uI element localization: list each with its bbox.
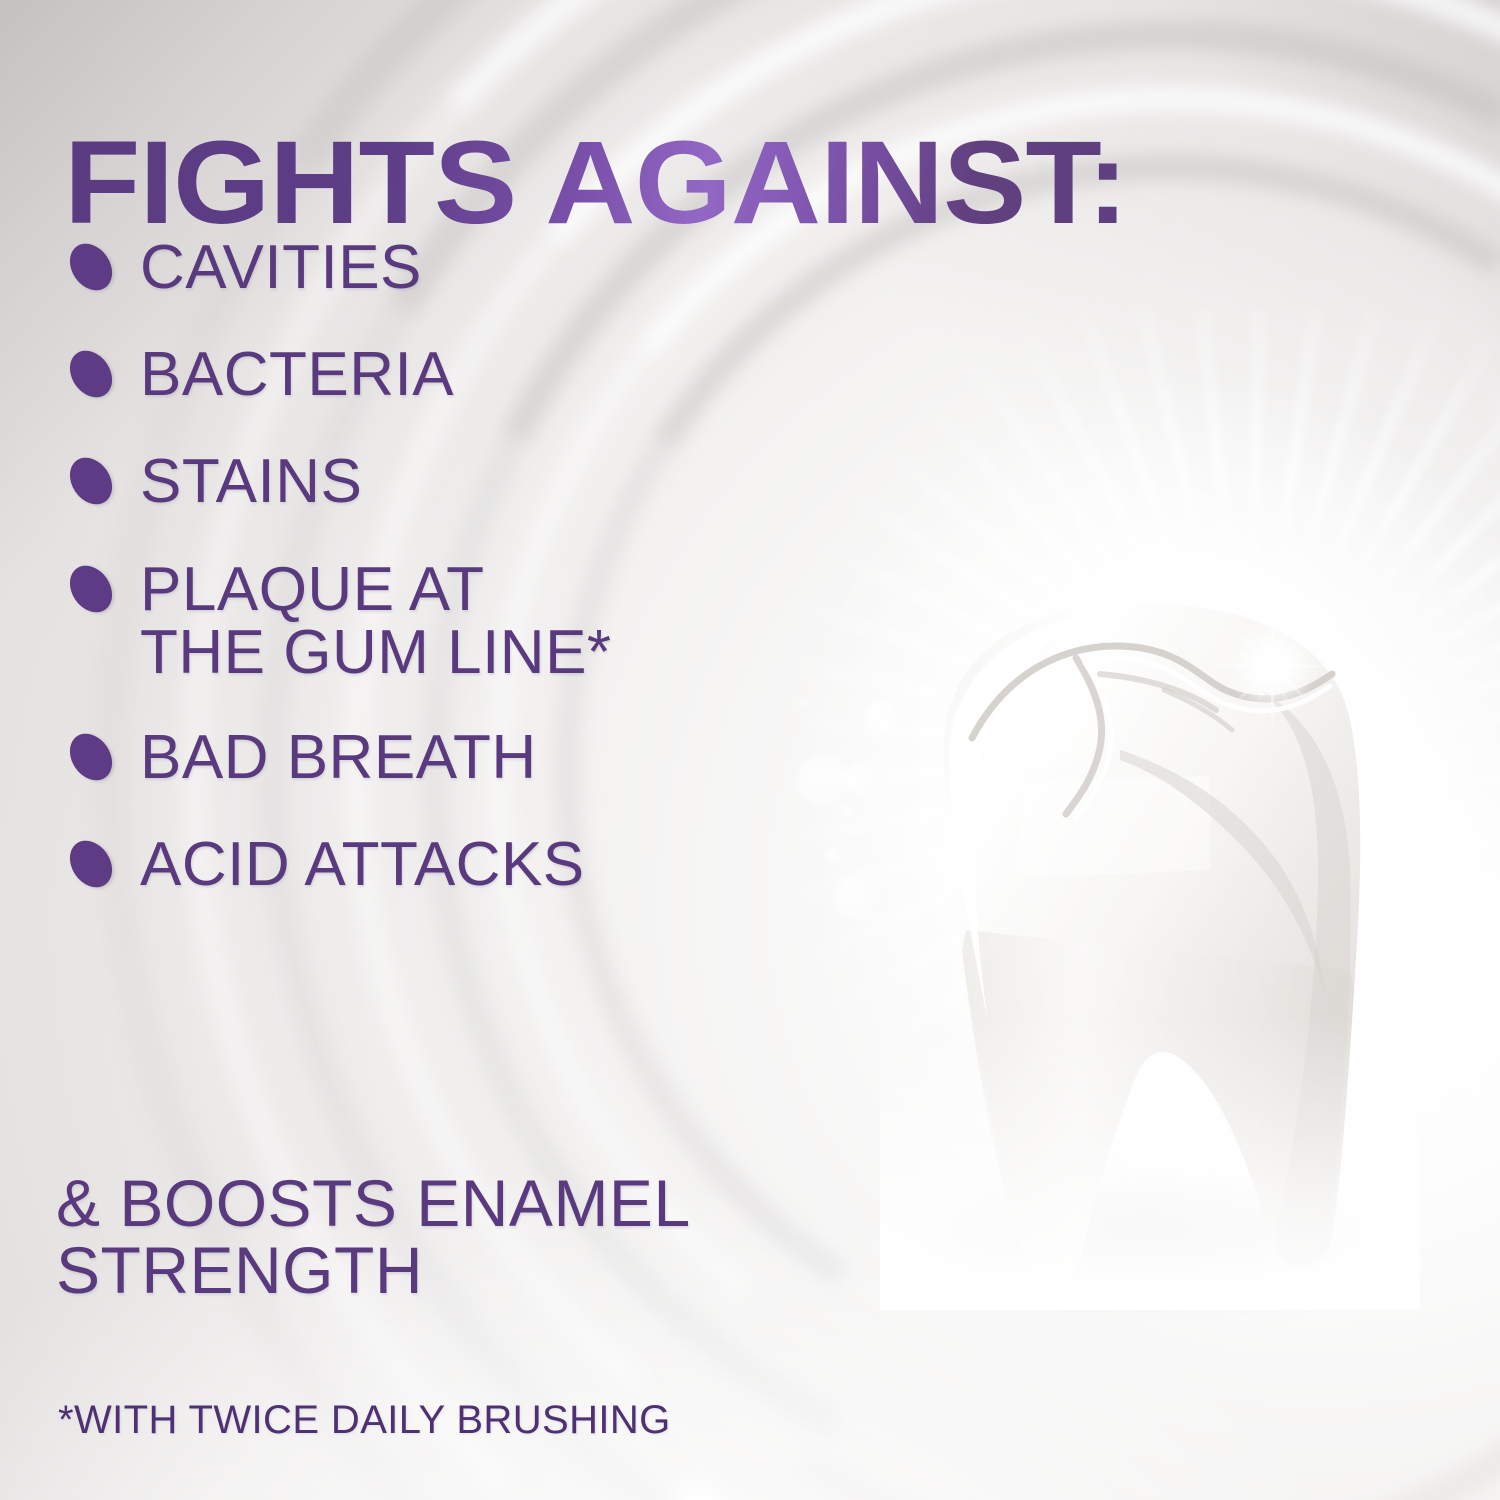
closing-claim: & BOOSTS ENAMEL STRENGTH xyxy=(56,1170,896,1305)
list-item-label: PLAQUE AT THE GUM LINE* xyxy=(140,558,612,684)
page-title: FIGHTS AGAINST: xyxy=(64,123,1500,243)
poster-canvas: FIGHTS AGAINST: CAVITIES BACTERIA STAINS… xyxy=(0,0,1500,1500)
list-item: CAVITIES xyxy=(72,236,902,299)
list-item-label: STAINS xyxy=(140,450,362,513)
list-item: BAD BREATH xyxy=(72,726,902,789)
fights-against-list: CAVITIES BACTERIA STAINS PLAQUE AT THE G… xyxy=(72,236,902,941)
list-item-label: BACTERIA xyxy=(140,343,454,406)
list-item-label: ACID ATTACKS xyxy=(140,833,585,896)
bubble-particle xyxy=(1432,898,1472,938)
list-item: BACTERIA xyxy=(72,343,902,406)
list-item: STAINS xyxy=(72,450,902,513)
list-item-label: BAD BREATH xyxy=(140,726,537,789)
list-item: ACID ATTACKS xyxy=(72,833,902,896)
list-item: PLAQUE AT THE GUM LINE* xyxy=(72,558,902,684)
tooth-illustration xyxy=(880,570,1420,1310)
list-item-label: CAVITIES xyxy=(140,236,422,299)
footnote-text: *WITH TWICE DAILY BRUSHING xyxy=(58,1398,671,1442)
